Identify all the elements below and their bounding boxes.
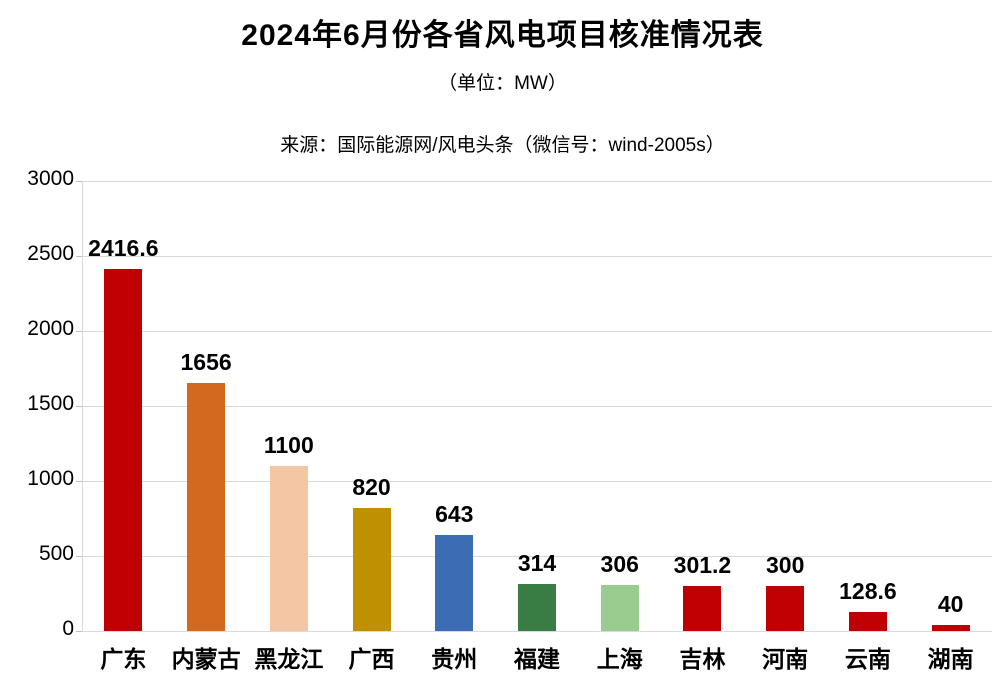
bar[interactable] — [518, 584, 556, 631]
x-axis-category-label: 云南 — [827, 640, 910, 674]
bar[interactable] — [435, 535, 473, 631]
bar-value-label: 2416.6 — [88, 235, 158, 262]
bar[interactable] — [104, 269, 142, 631]
bar-value-label: 820 — [352, 474, 390, 501]
chart-subtitle: （单位：MW） — [0, 68, 1005, 95]
y-axis-tick-label: 2500 — [4, 242, 74, 266]
gridline — [82, 631, 992, 632]
bar[interactable] — [187, 383, 225, 631]
x-axis-category-label: 上海 — [578, 640, 661, 674]
bar-group — [165, 181, 248, 631]
y-axis-tick-label: 3000 — [4, 167, 74, 191]
bar-value-label: 1100 — [264, 432, 314, 459]
x-axis-category-label: 湖南 — [909, 640, 992, 674]
x-axis-category-label: 贵州 — [413, 640, 496, 674]
y-axis-tick-label: 2000 — [4, 317, 74, 341]
bar-group — [330, 181, 413, 631]
x-axis-category-label: 福建 — [496, 640, 579, 674]
chart-container: 2024年6月份各省风电项目核准情况表 （单位：MW） 来源：国际能源网/风电头… — [0, 0, 1005, 689]
y-axis-tick-mark — [76, 256, 82, 257]
x-axis-category-label: 黑龙江 — [247, 640, 330, 674]
x-axis-category-label: 广西 — [330, 640, 413, 674]
bar-value-label: 300 — [766, 552, 804, 579]
y-axis-tick-mark — [76, 481, 82, 482]
y-axis-tick-mark — [76, 631, 82, 632]
y-axis-tick-mark — [76, 331, 82, 332]
y-axis-tick-mark — [76, 556, 82, 557]
bar-value-label: 301.2 — [674, 552, 732, 579]
bar-group — [247, 181, 330, 631]
bar[interactable] — [353, 508, 391, 631]
chart-source-note: 来源：国际能源网/风电头条（微信号：wind-2005s） — [0, 130, 1005, 157]
bar-value-label: 643 — [435, 501, 473, 528]
x-axis-category-label: 广东 — [82, 640, 165, 674]
bar-value-label: 314 — [518, 550, 556, 577]
y-axis-tick-label: 500 — [4, 542, 74, 566]
bar[interactable] — [932, 625, 970, 631]
bar[interactable] — [849, 612, 887, 631]
x-axis-category-label: 吉林 — [661, 640, 744, 674]
bar-value-label: 306 — [601, 551, 639, 578]
x-axis-category-label: 内蒙古 — [165, 640, 248, 674]
bar[interactable] — [270, 466, 308, 631]
bar[interactable] — [766, 586, 804, 631]
y-axis-tick-mark — [76, 181, 82, 182]
chart-title: 2024年6月份各省风电项目核准情况表 — [0, 10, 1005, 54]
bar-value-label: 40 — [938, 591, 964, 618]
y-axis-tick-label: 0 — [4, 617, 74, 641]
bar-value-label: 128.6 — [839, 578, 897, 605]
y-axis-tick-label: 1500 — [4, 392, 74, 416]
bar-group — [413, 181, 496, 631]
y-axis-tick-mark — [76, 406, 82, 407]
bar[interactable] — [601, 585, 639, 631]
x-axis-category-label: 河南 — [744, 640, 827, 674]
y-axis-tick-label: 1000 — [4, 467, 74, 491]
bar[interactable] — [683, 586, 721, 631]
bar-group — [909, 181, 992, 631]
bar-value-label: 1656 — [180, 349, 231, 376]
bar-group — [827, 181, 910, 631]
